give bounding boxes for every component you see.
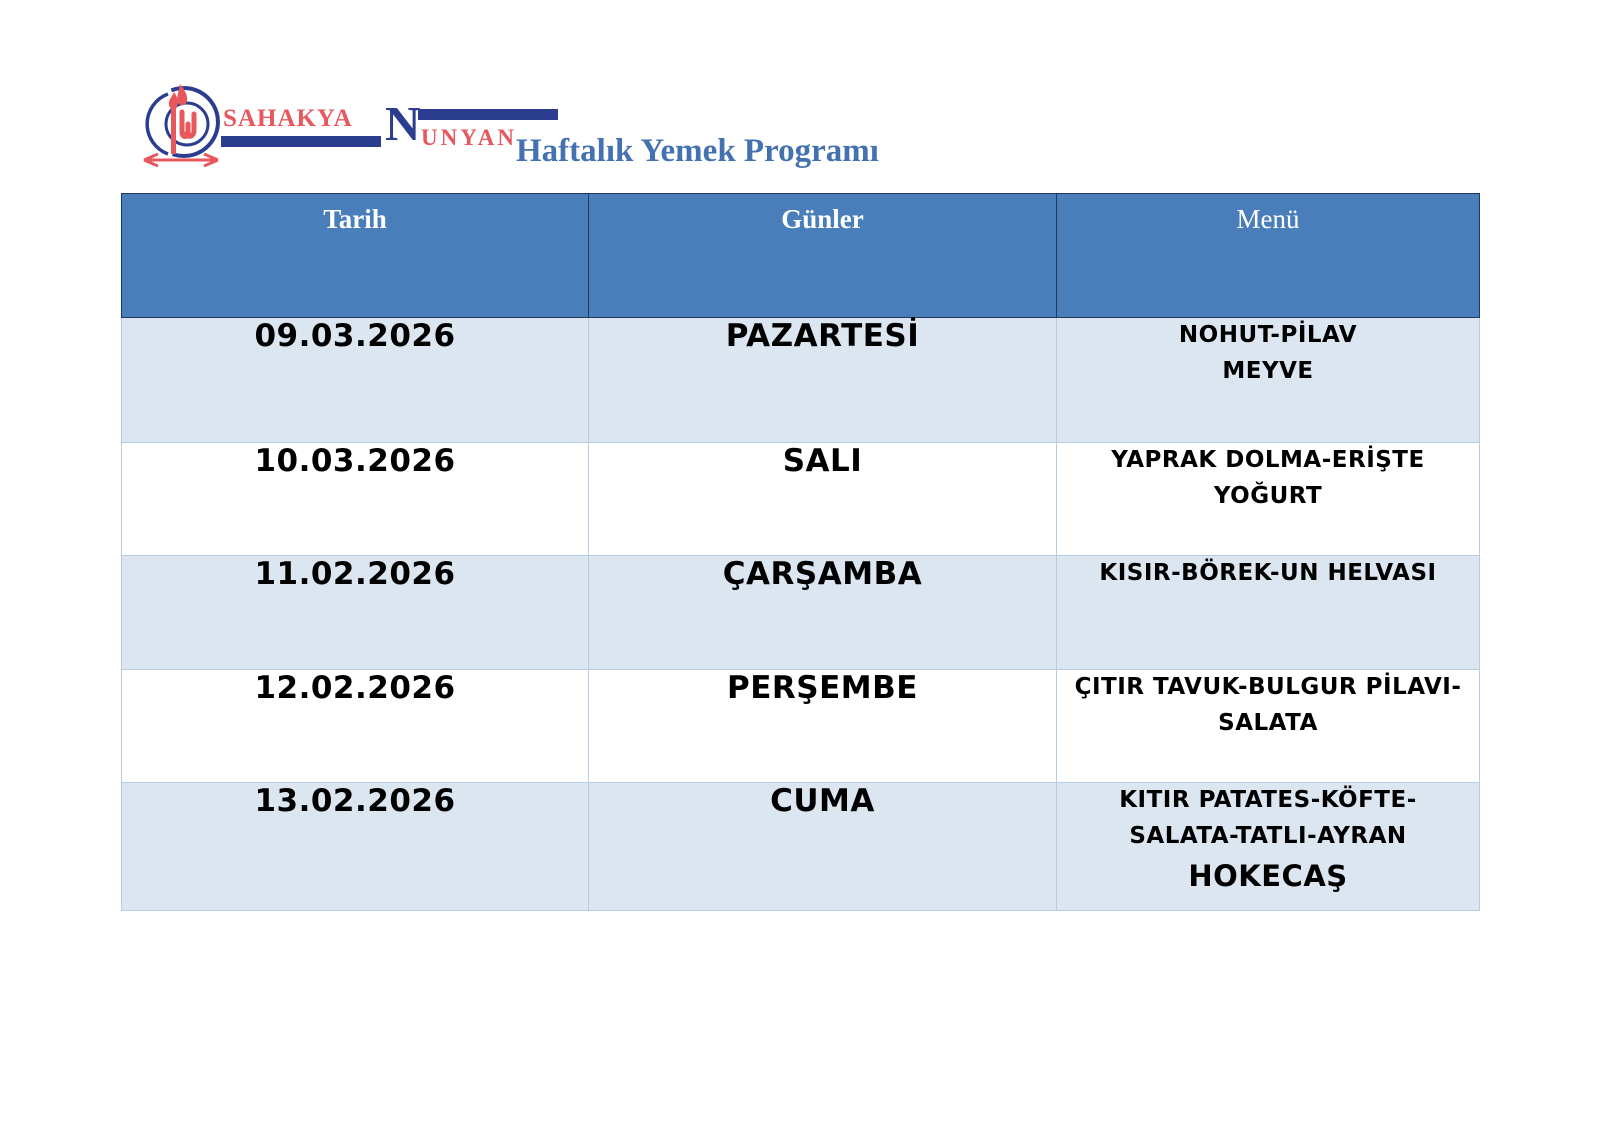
column-header-days-label: Günler	[781, 204, 864, 234]
column-header-date: Tarih	[122, 194, 589, 318]
document-header: SAHAKYA N UNYAN Haftalık Yemek Programı	[0, 0, 1600, 190]
menu-line: YAPRAK DOLMA-ERİŞTE	[1057, 443, 1479, 479]
cell-day: SALI	[589, 443, 1057, 556]
logo-text-unyan: UNYAN	[421, 126, 517, 149]
column-header-menu: Menü	[1057, 194, 1480, 318]
logo-text-sahakya: SAHAKYA	[223, 106, 353, 131]
menu-line: KISIR-BÖREK-UN HELVASI	[1057, 556, 1479, 592]
table-row: 11.02.2026 ÇARŞAMBA KISIR-BÖREK-UN HELVA…	[122, 556, 1480, 670]
column-header-menu-label: Menü	[1237, 204, 1300, 234]
page-title: Haftalık Yemek Programı	[516, 135, 879, 168]
cell-date: 10.03.2026	[122, 443, 589, 556]
logo-text-n: N	[385, 99, 420, 148]
table-row: 13.02.2026 CUMA KITIR PATATES-KÖFTE- SAL…	[122, 783, 1480, 911]
table-row: 10.03.2026 SALI YAPRAK DOLMA-ERİŞTE YOĞU…	[122, 443, 1480, 556]
menu-line: MEYVE	[1057, 354, 1479, 390]
cell-menu: NOHUT-PİLAV MEYVE	[1057, 318, 1480, 443]
cell-menu: KISIR-BÖREK-UN HELVASI	[1057, 556, 1480, 670]
cell-date: 12.02.2026	[122, 670, 589, 783]
cell-menu: ÇITIR TAVUK-BULGUR PİLAVI- SALATA	[1057, 670, 1480, 783]
logo-wordmark: SAHAKYA N UNYAN	[213, 106, 503, 168]
logo-bar-top	[418, 109, 558, 120]
table-row: 12.02.2026 PERŞEMBE ÇITIR TAVUK-BULGUR P…	[122, 670, 1480, 783]
cell-date: 13.02.2026	[122, 783, 589, 911]
menu-line: YOĞURT	[1057, 479, 1479, 515]
cell-day: PAZARTESİ	[589, 318, 1057, 443]
cell-date: 09.03.2026	[122, 318, 589, 443]
menu-line: KITIR PATATES-KÖFTE-	[1057, 783, 1479, 819]
cell-menu: KITIR PATATES-KÖFTE- SALATA-TATLI-AYRAN …	[1057, 783, 1480, 911]
weekly-menu-table: Tarih Günler Menü 09.03.2026 PAZARTESİ N…	[121, 193, 1480, 911]
cell-menu: YAPRAK DOLMA-ERİŞTE YOĞURT	[1057, 443, 1480, 556]
logo: SAHAKYA N UNYAN	[138, 78, 498, 170]
cell-date: 11.02.2026	[122, 556, 589, 670]
menu-line: NOHUT-PİLAV	[1057, 318, 1479, 354]
column-header-date-label: Tarih	[323, 204, 387, 234]
table-header-row: Tarih Günler Menü	[122, 194, 1480, 318]
menu-line: SALATA-TATLI-AYRAN	[1057, 819, 1479, 855]
cell-day: ÇARŞAMBA	[589, 556, 1057, 670]
menu-line: SALATA	[1057, 706, 1479, 742]
menu-line: ÇITIR TAVUK-BULGUR PİLAVI-	[1057, 670, 1479, 706]
table-row: 09.03.2026 PAZARTESİ NOHUT-PİLAV MEYVE	[122, 318, 1480, 443]
column-header-days: Günler	[589, 194, 1057, 318]
cell-day: PERŞEMBE	[589, 670, 1057, 783]
cell-day: CUMA	[589, 783, 1057, 911]
menu-line-emphasis: HOKECAŞ	[1057, 854, 1479, 899]
logo-bar-bottom	[221, 136, 381, 147]
